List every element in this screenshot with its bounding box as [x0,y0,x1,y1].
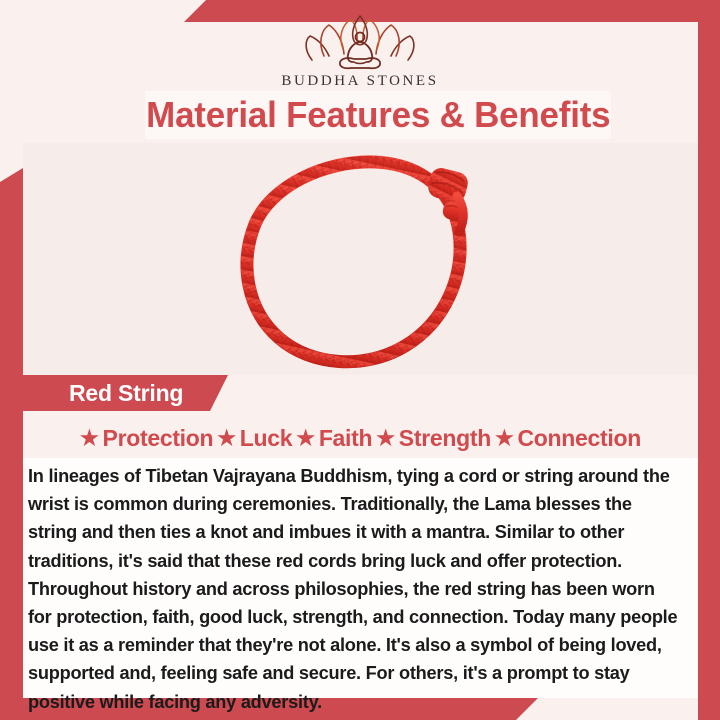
product-name-label: Red String [23,380,183,407]
title-banner: Material Features & Benefits [145,91,611,139]
product-image-area [23,143,698,375]
red-braided-string-bracelet-icon [225,146,497,374]
description-panel: In lineages of Tibetan Vajrayana Buddhis… [23,458,698,698]
benefit-item-connection: ★ Connection [495,425,641,452]
benefit-item-faith: ★ Faith [296,425,372,452]
star-icon: ★ [217,428,236,449]
benefit-item-protection: ★ Protection [80,425,213,452]
frame-bar-left [0,168,23,720]
benefit-item-strength: ★ Strength [376,425,491,452]
benefit-label: Faith [319,425,372,452]
description-text: In lineages of Tibetan Vajrayana Buddhis… [28,462,680,716]
page-title: Material Features & Benefits [146,94,610,136]
star-icon: ★ [376,428,395,449]
star-icon: ★ [495,428,514,449]
benefit-label: Protection [103,425,214,452]
brand-name: BUDDHA STONES [0,73,720,90]
benefits-list: ★ Protection ★ Luck ★ Faith ★ Strength ★… [23,419,698,457]
benefit-label: Strength [399,425,491,452]
benefit-label: Connection [517,425,641,452]
star-icon: ★ [296,428,315,449]
frame-bar-right [698,22,720,720]
brand-header: BUDDHA STONES [0,14,720,90]
material-features-poster: BUDDHA STONES Material Features & Benefi… [0,0,720,720]
benefit-label: Luck [240,425,292,452]
product-name-ribbon: Red String [23,375,228,411]
star-icon: ★ [80,428,99,449]
benefit-item-luck: ★ Luck [217,425,292,452]
lotus-meditation-icon [301,14,419,70]
